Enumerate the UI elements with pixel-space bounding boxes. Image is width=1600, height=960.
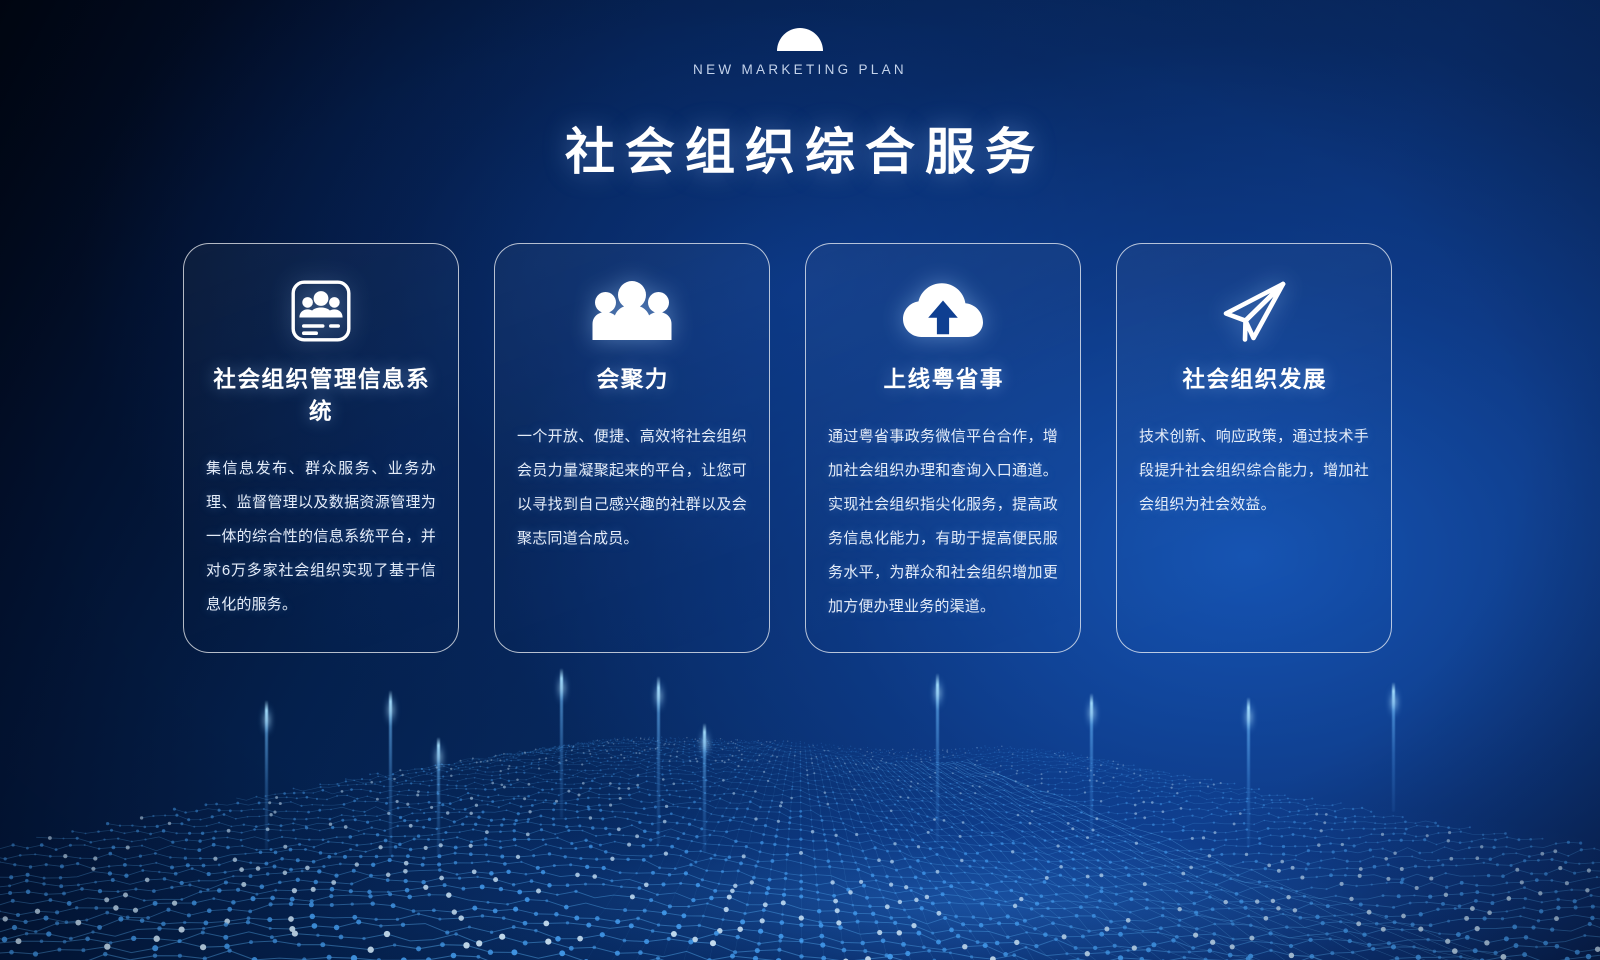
light-beam [703,723,706,853]
card-title: 社会组织发展 [1139,362,1369,394]
particle-wave-mesh [0,630,1600,960]
light-beam [657,676,660,844]
light-beam [265,700,268,850]
card-body: 技术创新、响应政策，通过技术手段提升社会组织综合能力，增加社会组织为社会效益。 [1139,420,1369,522]
light-beam [560,668,563,818]
wave-particles [0,737,1600,960]
page-title: 社会组织综合服务 [0,112,1600,184]
card-body: 集信息发布、群众服务、业务办理、监督管理以及数据资源管理为一体的综合性的信息系统… [206,452,436,622]
feature-card-yuesheng-online[interactable]: 上线粤省事 通过粤省事政务微信平台合作，增加社会组织办理和查询入口通道。实现社会… [805,243,1081,653]
card-title: 会聚力 [517,362,747,394]
brand-header: NEW MARKETING PLAN [0,28,1600,77]
cloud-upload-icon [828,274,1058,348]
paper-plane-icon [1139,274,1369,348]
feature-card-list: 社会组织管理信息系统 集信息发布、群众服务、业务办理、监督管理以及数据资源管理为… [183,243,1419,653]
card-title: 上线粤省事 [828,362,1058,394]
feature-card-organization-development[interactable]: 社会组织发展 技术创新、响应政策，通过技术手段提升社会组织综合能力，增加社会组织… [1116,243,1392,653]
light-beam [936,673,939,843]
feature-card-management-system[interactable]: 社会组织管理信息系统 集信息发布、群众服务、业务办理、监督管理以及数据资源管理为… [183,243,459,653]
light-beam [437,737,440,857]
feature-card-gathering-power[interactable]: 会聚力 一个开放、便捷、高效将社会组织会员力量凝聚起来的平台，让您可以寻找到自己… [494,243,770,653]
id-card-people-icon [206,274,436,348]
card-body: 通过粤省事政务微信平台合作，增加社会组织办理和查询入口通道。实现社会组织指尖化服… [828,420,1058,624]
half-dome-icon [777,28,823,51]
card-title: 社会组织管理信息系统 [206,362,436,426]
light-beam [1392,682,1395,812]
light-beam [1090,693,1093,838]
light-beam [389,690,392,855]
poster-canvas: NEW MARKETING PLAN 社会组织综合服务 [0,0,1600,960]
brand-tagline: NEW MARKETING PLAN [0,62,1600,77]
card-body: 一个开放、便捷、高效将社会组织会员力量凝聚起来的平台，让您可以寻找到自己感兴趣的… [517,420,747,556]
people-group-icon [517,274,747,348]
light-beam [1247,697,1250,847]
